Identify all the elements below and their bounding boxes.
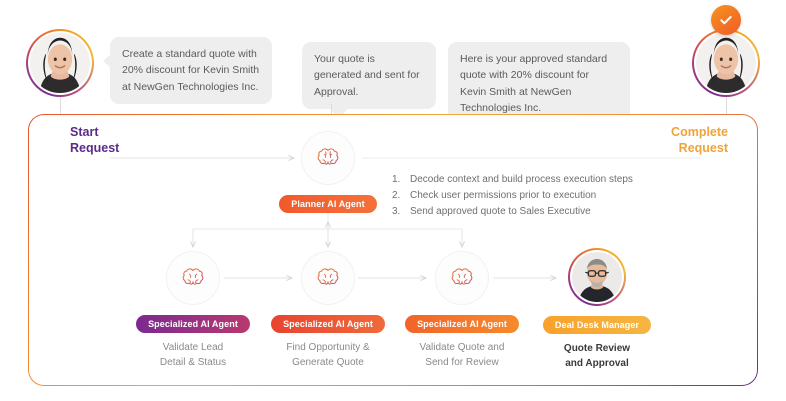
speech-bubble-result: Here is your approved standard quote wit… xyxy=(448,42,630,125)
speech-bubble-request: Create a standard quote with 20% discoun… xyxy=(110,37,272,104)
caption-line1: Quote Review xyxy=(564,342,630,357)
avatar-photo xyxy=(572,252,622,302)
step-text: Check user permissions prior to executio… xyxy=(410,188,596,204)
step-item: 1. Decode context and build process exec… xyxy=(392,172,633,188)
caption-line1: Validate Quote and xyxy=(420,341,505,356)
brain-icon xyxy=(166,251,220,305)
node-validate-lead[interactable]: Specialized AI Agent Validate Lead Detai… xyxy=(139,251,247,370)
bubble-text: Your quote is generated and sent for App… xyxy=(314,53,420,98)
start-request-label: Start Request xyxy=(70,124,119,156)
agent-pill[interactable]: Specialized AI Agent xyxy=(405,315,519,333)
bubble-tail-icon xyxy=(103,54,111,68)
planner-steps-list: 1. Decode context and build process exec… xyxy=(392,172,633,221)
node-deal-desk-manager[interactable]: Deal Desk Manager Quote Review and Appro… xyxy=(542,248,652,371)
man-avatar xyxy=(568,248,626,306)
woman-user-avatar xyxy=(26,29,94,97)
agent-caption: Validate Quote and Send for Review xyxy=(420,341,505,370)
caption-line2: Detail & Status xyxy=(160,356,226,371)
caption-line2: Send for Review xyxy=(420,356,505,371)
agent-caption: Validate Lead Detail & Status xyxy=(160,341,226,370)
check-icon xyxy=(718,12,734,28)
complete-label-line2: Request xyxy=(671,140,728,156)
node-find-opportunity[interactable]: Specialized AI Agent Find Opportunity & … xyxy=(274,251,382,370)
node-validate-quote[interactable]: Specialized AI Agent Validate Quote and … xyxy=(408,251,516,370)
manager-caption: Quote Review and Approval xyxy=(564,342,630,371)
caption-line2: and Approval xyxy=(564,357,630,372)
bubble-text: Create a standard quote with 20% discoun… xyxy=(122,48,259,93)
start-label-line2: Request xyxy=(70,140,119,156)
step-number: 2. xyxy=(392,188,410,204)
agent-pill[interactable]: Specialized AI Agent xyxy=(271,315,385,333)
bubble-text: Here is your approved standard quote wit… xyxy=(460,53,607,114)
avatar-photo xyxy=(30,33,90,93)
start-label-line1: Start xyxy=(70,124,119,140)
step-text: Send approved quote to Sales Executive xyxy=(410,204,591,220)
caption-line1: Validate Lead xyxy=(160,341,226,356)
avatar-photo xyxy=(696,33,756,93)
status-badge xyxy=(711,5,741,35)
brain-icon xyxy=(435,251,489,305)
diagram-canvas: Create a standard quote with 20% discoun… xyxy=(0,0,786,401)
node-planner-ai-agent[interactable]: Planner AI Agent xyxy=(274,131,382,213)
agent-caption: Find Opportunity & Generate Quote xyxy=(286,341,369,370)
avatar-inner xyxy=(570,250,624,304)
step-text: Decode context and build process executi… xyxy=(410,172,633,188)
brain-icon xyxy=(301,131,355,185)
caption-line1: Find Opportunity & xyxy=(286,341,369,356)
complete-request-label: Complete Request xyxy=(671,124,728,156)
step-number: 3. xyxy=(392,204,410,220)
brain-icon xyxy=(301,251,355,305)
woman-agent-avatar xyxy=(692,29,760,97)
step-item: 3. Send approved quote to Sales Executiv… xyxy=(392,204,633,220)
speech-bubble-progress: Your quote is generated and sent for App… xyxy=(302,42,436,109)
step-number: 1. xyxy=(392,172,410,188)
step-item: 2. Check user permissions prior to execu… xyxy=(392,188,633,204)
avatar-inner xyxy=(28,31,92,95)
complete-label-line1: Complete xyxy=(671,124,728,140)
caption-line2: Generate Quote xyxy=(286,356,369,371)
avatar-inner xyxy=(694,31,758,95)
agent-pill[interactable]: Specialized AI Agent xyxy=(136,315,250,333)
planner-agent-pill[interactable]: Planner AI Agent xyxy=(279,195,376,213)
manager-pill[interactable]: Deal Desk Manager xyxy=(543,316,651,334)
